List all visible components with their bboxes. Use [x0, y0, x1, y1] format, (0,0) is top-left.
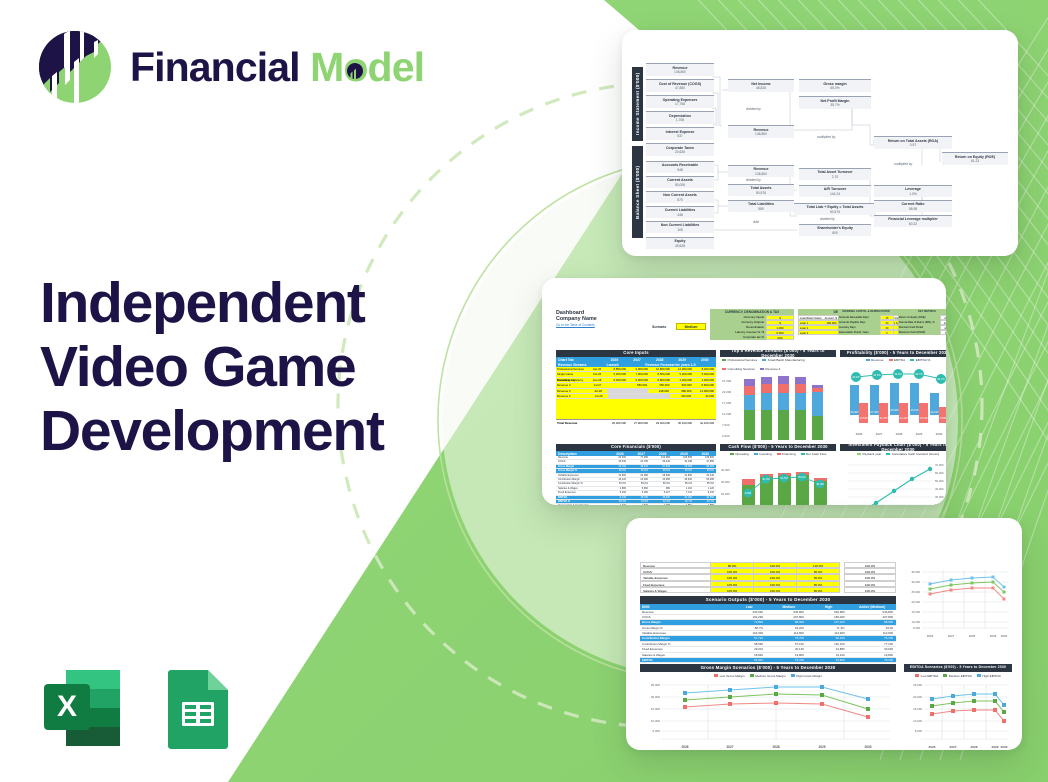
svg-text:30.2%: 30.2% — [852, 375, 860, 379]
cell-value: 58.0% — [628, 482, 650, 485]
cell-value: 56.0% — [650, 482, 672, 485]
cell-value: 47,880 — [694, 460, 716, 463]
dashboard-header: Dashboard Company Name Go to the Table o… — [556, 310, 597, 327]
svg-text:30,000: 30,000 — [935, 495, 944, 499]
cell-value[interactable]: 105.0% — [710, 575, 753, 579]
row-label: Depreciation & Amortisation — [556, 504, 606, 505]
node-net-income: Net Income48,828 — [728, 79, 794, 92]
row-label: Revenue — [640, 610, 725, 614]
svg-text:11,780: 11,780 — [880, 416, 888, 420]
cell-value: 30,125 — [766, 647, 807, 651]
cell-value: 18,840 — [725, 653, 766, 657]
cell-value: 23,780 — [628, 460, 650, 463]
revenue-streams-rows: Professional ServicesApr-268,850,0009,00… — [556, 367, 716, 419]
cell-value: 28,840 — [650, 474, 672, 477]
svg-text:9,880: 9,880 — [940, 416, 946, 420]
core-inputs-subheader: Chart Tab 2026 2027 2028 2029 2030 — [556, 357, 716, 362]
cell-value: 1,855 — [694, 504, 716, 505]
row-label: EBITDA % — [556, 500, 606, 503]
node-total-liabilities: Total Liabilities589 — [728, 200, 794, 212]
row-label: Fixed Expenses — [556, 491, 606, 494]
cell-value: 55,480 — [694, 478, 716, 481]
svg-text:15,000: 15,000 — [913, 707, 922, 711]
cell-value: 75,700 — [766, 658, 807, 662]
cell-value: 5,960 — [628, 487, 650, 490]
brand-word-del: del — [368, 44, 425, 90]
core-financials-panel: Core Financials ($'000) Description 2026… — [556, 444, 716, 505]
cell-value: 100.0% — [845, 575, 895, 579]
node-equity: Equity49,628 — [646, 237, 714, 249]
row-label: Gross Margin % — [556, 469, 606, 472]
svg-text:2030: 2030 — [1001, 634, 1008, 638]
svg-text:10,000: 10,000 — [913, 719, 922, 723]
cash-flow-chart-svg: 40,00030,00020,00010,000-(10,000) — [720, 457, 836, 505]
node-financial-leverage-multiplier: Financial Leverage multiplier60.22 — [874, 215, 952, 227]
svg-text:-: - — [659, 737, 660, 741]
cell-value: 55.0% — [672, 482, 694, 485]
cell-value: 40,650 — [694, 496, 716, 499]
cell-value: 65.0% — [694, 469, 716, 472]
operator-add: Add — [753, 220, 759, 224]
svg-text:2030: 2030 — [936, 432, 943, 436]
cell-value: 546,800 — [766, 610, 807, 614]
brand-word-m: M — [310, 44, 343, 90]
node-current-ratio: Current Ratio58.98 — [874, 200, 952, 212]
profitability-chart: Profitability ($'000) - 5 Years to Decem… — [840, 350, 946, 446]
cell-value: 33,440 — [694, 474, 716, 477]
cell-value: 18,730 — [628, 496, 650, 499]
node-revenue: Revenue136,800 — [646, 63, 714, 76]
svg-text:7,000: 7,000 — [722, 423, 730, 427]
scenario-outputs-table: Scenario Outputs ($'000) - 5 Years to De… — [640, 596, 896, 669]
cell-value: 15,760 — [606, 465, 628, 468]
cell-value: 5,200 — [606, 491, 628, 494]
cell-value: 103,300 — [725, 631, 766, 635]
svg-text:32.7%: 32.7% — [937, 377, 945, 381]
cell-value: 75,700 — [766, 636, 807, 640]
svg-text:2027: 2027 — [726, 745, 733, 749]
svg-text:2026: 2026 — [927, 634, 934, 638]
profitability-chart-svg: 30.2%24.5%32.0%30.7%32.7% 26,30027,06029… — [840, 363, 946, 441]
file-format-icons: X — [38, 664, 242, 752]
row-label: COGS — [640, 615, 725, 619]
currency-panel: CURRENCY, DENOMINATION & TAX Currency In… — [710, 309, 794, 340]
cell-value: 107,100 — [807, 620, 848, 624]
cell-value: 333,530 — [725, 610, 766, 614]
scenario-overview-chart: 35,00030,00025,000 20,00015,00010,0005,0… — [904, 562, 1012, 647]
scenario-assumptions-table: Revenue80.0%100.0%120.0%COGS105.0%100.0%… — [640, 562, 840, 593]
cell-value: 23,090 — [628, 478, 650, 481]
svg-text:5,000: 5,000 — [652, 729, 660, 733]
cell-value: 1,500 — [628, 504, 650, 505]
svg-text:30.7%: 30.7% — [915, 372, 923, 376]
chart-title: Gross Margin Scenarios ($'000) - 5 Years… — [640, 664, 896, 672]
node-total-liab-equity-total-assets: Total Liab + Equity = Total Assets50,576 — [794, 203, 876, 215]
svg-text:10,540: 10,540 — [860, 416, 868, 420]
cell-value: 62.0% — [628, 469, 650, 472]
row-label: Contribution Margin — [556, 478, 606, 481]
ebitda-scenarios-chart: EBITDA Scenarios ($'000) - 5 Years to De… — [904, 664, 1012, 750]
cell-value: 30,025 — [848, 647, 896, 651]
page-title-line-1: Independent — [40, 272, 384, 336]
cell-value: 5,280 — [628, 491, 650, 494]
cell-value: 113,900 — [848, 631, 896, 635]
mini-chart-circle-icon — [346, 47, 365, 88]
cell-value: 2,880 — [606, 487, 628, 490]
chart-title: Investment Payback Chart ($'000) - 5 Yea… — [840, 444, 946, 451]
cash-flow-chart: Cash Flow ($'000) - 5 Years to December … — [720, 444, 836, 505]
cell-value: 38,590 — [725, 642, 766, 646]
balance-sheet-side-label: Balance Sheet ($'000) — [632, 146, 643, 238]
cell-value: 7,011 — [672, 491, 694, 494]
node-return-on-equity: Return on Equity (ROE)61.23 — [942, 152, 1008, 165]
svg-text:2026: 2026 — [929, 745, 936, 749]
dashboard-sheet: Dashboard Company Name Go to the Table o… — [542, 278, 946, 505]
cell-value: 65.0% — [650, 469, 672, 472]
cell-value: 88,920 — [694, 465, 716, 468]
ebitda-chart-svg: 25,00020,00015,00010,0005,000- 202620272… — [904, 679, 1012, 750]
cell-value: 546,800 — [848, 610, 896, 614]
svg-text:32.0%: 32.0% — [894, 372, 902, 376]
stacked-bar-chart-svg: 27,00022,00017,000 12,0007,0002,000 — [720, 372, 836, 450]
svg-text:10,000: 10,000 — [721, 504, 730, 505]
svg-text:2027: 2027 — [948, 634, 955, 638]
dupont-diagram-card[interactable]: Income Statement ($'000) Balance Sheet (… — [622, 30, 1018, 256]
cell-value: 53.0% — [606, 482, 628, 485]
svg-text:40,000: 40,000 — [721, 468, 730, 472]
cell-value: 30.2% — [606, 500, 628, 503]
cell-value[interactable]: 105.0% — [710, 582, 753, 586]
cell-value: 10,120 — [606, 478, 628, 481]
svg-text:50,016: 50,016 — [798, 476, 806, 479]
table-row[interactable]: Salaries & Wages105.0%100.0%95.0% — [640, 587, 840, 593]
cell-value[interactable]: 100.0% — [753, 569, 796, 573]
node-depreciation: Depreciation1,765 — [646, 111, 714, 124]
node-net-profit-margin: Net Profit Margin35.7% — [799, 96, 871, 109]
svg-text:20,000: 20,000 — [651, 695, 661, 699]
chart-title: EBITDA Scenarios ($'000) - 5 Years to De… — [904, 664, 1012, 672]
cell-value: 62,200 — [766, 626, 807, 630]
cell-value: 71.4% — [807, 626, 848, 630]
svg-text:40,000: 40,000 — [935, 487, 944, 491]
core-inputs-title: Core Inputs — [556, 350, 716, 357]
row-label: Salaries & Wages — [641, 588, 710, 592]
row-label: EBITDA — [556, 496, 606, 499]
google-sheets-icon[interactable] — [154, 664, 242, 752]
cell-value: 40,198 — [672, 460, 694, 463]
core-inputs-panel: Core Inputs Chart Tab 2026 2027 2028 202… — [556, 350, 716, 426]
operator-multiplied-by-1: multiplied by — [817, 135, 835, 139]
svg-text:27,000: 27,000 — [722, 379, 732, 383]
node-return-on-total-assets: Return on Total Assets (ROA)0.97 — [874, 136, 952, 149]
cell-value: 33,950 — [650, 478, 672, 481]
cell-value: 63.00 — [848, 626, 896, 630]
row-label: Fixed Expenses — [640, 647, 725, 651]
cell-value: 26,300 — [606, 456, 628, 459]
cell-value: 88,300 — [766, 620, 807, 624]
cell-value[interactable]: 100.0% — [753, 582, 796, 586]
row-label: Variable Expenses — [640, 631, 725, 635]
cell-value: 100.0% — [845, 569, 895, 573]
svg-text:2029: 2029 — [992, 745, 999, 749]
row-label: Revenue — [556, 456, 606, 459]
cell-value: 60.0% — [606, 469, 628, 472]
excel-letter-x: X — [57, 690, 77, 723]
svg-text:30,000: 30,000 — [911, 580, 920, 584]
cell-value: 24.5% — [628, 500, 650, 503]
cell-value: 22,090 — [628, 474, 650, 477]
working-capital-panel: WORKING CAPITAL & DEPRECIATION Accounts … — [838, 309, 894, 335]
svg-text:2029: 2029 — [916, 432, 923, 436]
cell-value: 1,073 — [606, 504, 628, 505]
cell-value[interactable]: 95.0% — [796, 569, 839, 573]
top5-revenue-streams-chart: Top 5 Revenue Streams ($'000) - 5 Years … — [720, 350, 836, 455]
brand-wordmark: Financial Model — [130, 47, 424, 88]
cell-value: 91,500 — [807, 658, 848, 662]
cell-value: 32.0% — [650, 500, 672, 503]
cell-value: 9,100 — [694, 491, 716, 494]
svg-text:50,000: 50,000 — [935, 479, 944, 483]
cell-value: 1,780 — [650, 504, 672, 505]
currency-panel-rows: Currency Inputs$ Currency Outputs$ Denom… — [710, 315, 794, 340]
total-revenue-row: Total Revenue 26,200,000 27,900,000 29,4… — [556, 419, 716, 426]
row-label: Revenue — [641, 563, 710, 567]
income-statement-side-label: Income Statement ($'000) — [632, 67, 643, 141]
svg-text:2029: 2029 — [990, 634, 997, 638]
svg-text:20,000: 20,000 — [721, 492, 730, 496]
cell-value: 100.0% — [845, 588, 895, 592]
row-label: Salaries & Wages — [640, 653, 725, 657]
svg-text:-: - — [921, 737, 922, 741]
page-title-line-2: Video Game — [40, 336, 384, 400]
cell-value: 136,800 — [694, 456, 716, 459]
cell-value: 104,056 — [650, 456, 672, 459]
svg-text:15,000: 15,000 — [911, 610, 920, 614]
cell-value[interactable]: 100.0% — [753, 575, 796, 579]
cell-value: 67,616 — [650, 465, 672, 468]
cell-value: 19,800 — [848, 653, 896, 657]
node-accounts-receivable: Accounts Receivable948 — [646, 161, 714, 173]
node-current-liabilities: Current Liabilities448 — [646, 206, 714, 218]
node-shareholders-equity: Shareholder's Equity800 — [799, 224, 871, 236]
scenario-label: Scenario — [652, 325, 666, 329]
node-interest-expense: Interest Expense537 — [646, 127, 714, 140]
cell-value: 530,580 — [807, 610, 848, 614]
svg-text:29,400: 29,400 — [891, 408, 899, 412]
svg-text:15,000: 15,000 — [651, 707, 661, 711]
svg-text:24.5%: 24.5% — [873, 373, 881, 377]
cell-value: 207,800 — [766, 615, 807, 619]
cell-value: 113,800 — [766, 631, 807, 635]
svg-text:60,000: 60,000 — [935, 471, 944, 475]
scenario-outputs-card[interactable]: Revenue80.0%100.0%120.0%COGS105.0%100.0%… — [626, 518, 1022, 750]
svg-text:17,000: 17,000 — [722, 401, 732, 405]
cell-value: 88,300 — [848, 620, 896, 624]
svg-text:48,188: 48,188 — [816, 483, 824, 486]
cell-value: 52,007 — [725, 658, 766, 662]
node-current-assets: Current Assets50,006 — [646, 176, 714, 188]
row-label: Variable Expenses — [556, 474, 606, 477]
svg-text:25,000: 25,000 — [911, 590, 920, 594]
svg-text:34,760: 34,760 — [780, 477, 788, 480]
scenario-dropdown[interactable]: Medium — [676, 323, 706, 330]
dashboard-company-name: Company Name — [556, 316, 597, 322]
cell-value: 31,880 — [807, 647, 848, 651]
row-label: Salaries & Wages — [556, 487, 606, 490]
svg-text:2027: 2027 — [876, 432, 883, 436]
row-label: COGS — [641, 569, 710, 573]
svg-text:2028: 2028 — [969, 634, 976, 638]
cell-value[interactable]: 100.0% — [753, 588, 796, 592]
cell-value: 13,800 — [606, 474, 628, 477]
cell-value: 58.7% — [725, 626, 766, 630]
svg-text:12,000: 12,000 — [722, 412, 732, 416]
cell-value: 77,100 — [848, 642, 896, 646]
brand-word-financial: Financial — [130, 44, 300, 90]
svg-text:2027: 2027 — [950, 745, 957, 749]
row-label: Contribution Margin % — [640, 642, 725, 646]
cell-value: 19,100 — [807, 653, 848, 657]
svg-text:2030: 2030 — [1001, 745, 1008, 749]
svg-text:10,000: 10,000 — [651, 719, 661, 723]
row-label: Fixed Expenses — [641, 582, 710, 586]
node-revenue-asset-turnover: Revenue136,800 — [728, 165, 794, 177]
chart-legend: Low EBITDA Medium EBITDA High EBITDA — [904, 672, 1012, 679]
svg-text:20,000: 20,000 — [913, 695, 922, 699]
svg-text:5,000: 5,000 — [913, 626, 920, 630]
cell-value: 19,800 — [766, 653, 807, 657]
chart-legend: Low Gross Margin Medium Gross Margin Hig… — [640, 672, 896, 679]
financial-dashboard-card[interactable]: Dashboard Company Name Go to the Table o… — [542, 278, 946, 505]
gross-margin-scenarios-chart: Gross Margin Scenarios ($'000) - 5 Years… — [640, 664, 896, 750]
node-total-asset-turnover: Total Asset Turnover2.70 — [799, 168, 871, 180]
svg-text:25,000: 25,000 — [651, 683, 661, 687]
page-title: Independent Video Game Development — [40, 272, 384, 463]
cell-value: 48,270 — [628, 465, 650, 468]
cell-value[interactable]: 120.0% — [796, 563, 839, 567]
cell-value: 106,535 — [672, 456, 694, 459]
cell-value: 38,630 — [672, 478, 694, 481]
cell-value: 57,100 — [766, 642, 807, 646]
svg-text:8,366: 8,366 — [745, 492, 752, 495]
cell-value: 75,700 — [848, 658, 896, 662]
financial-model-circle-logo-icon — [36, 28, 114, 106]
cell-value: 980 — [650, 487, 672, 490]
svg-text:5,000: 5,000 — [915, 729, 923, 733]
cell-value: 126,100 — [807, 642, 848, 646]
cell-value: 76,335 — [672, 465, 694, 468]
core-financials-title: Core Financials ($'000) — [556, 444, 716, 451]
cell-value[interactable]: 95.0% — [796, 588, 839, 592]
dupont-diagram-sheet: Income Statement ($'000) Balance Sheet (… — [622, 30, 1018, 256]
svg-text:22,100: 22,100 — [931, 410, 939, 414]
brand-word-o: o — [343, 47, 367, 88]
cell-value: 207,800 — [848, 615, 896, 619]
scenario-overview-chart-svg: 35,00030,00025,000 20,00015,00010,0005,0… — [904, 562, 1012, 642]
svg-text:2028: 2028 — [896, 432, 903, 436]
cell-value: 8,130 — [606, 496, 628, 499]
cell-value[interactable]: 95.0% — [796, 582, 839, 586]
node-non-current-liabilities: Non Current Liabilities105 — [646, 221, 714, 233]
svg-text:30,130: 30,130 — [762, 478, 770, 481]
page-title-line-3: Development — [40, 400, 384, 464]
dashboard-toc-link[interactable]: Go to the Table of Contents — [556, 323, 597, 327]
operator-multiplied-by-2: multiplied by — [894, 162, 912, 166]
cell-value: 30.7% — [672, 500, 694, 503]
chart-title: Cash Flow ($'000) - 5 Years to December … — [720, 444, 836, 451]
svg-text:10,000: 10,000 — [911, 620, 920, 624]
node-corporate-taxes: Corporate Taxes20,626 — [646, 143, 714, 156]
node-ar-turnover: A/R Turnover144.24 — [799, 185, 871, 197]
cell-value[interactable]: 105.0% — [710, 569, 753, 573]
svg-text:20,000: 20,000 — [911, 600, 920, 604]
svg-text:25,000: 25,000 — [913, 683, 922, 687]
cell-value: 10,540 — [606, 460, 628, 463]
operator-divided-by-1: divided by — [746, 107, 761, 111]
investment-payback-chart: Investment Payback Chart ($'000) - 5 Yea… — [840, 444, 946, 505]
table-row: 100.0% — [844, 587, 896, 593]
scenario-sheet: Revenue80.0%100.0%120.0%COGS105.0%100.0%… — [626, 518, 1022, 750]
scenario-actual-column: 100.0%100.0%100.0%100.0%100.0% — [844, 562, 896, 593]
svg-text:20,000: 20,000 — [935, 503, 944, 505]
row-label: Variable Expenses — [641, 575, 710, 579]
row-label: EBITDA — [640, 658, 725, 662]
chart-title: Top 5 Revenue Streams ($'000) - 5 Years … — [720, 350, 836, 357]
svg-text:2028: 2028 — [772, 745, 779, 749]
cell-value[interactable]: 80.0% — [710, 563, 753, 567]
svg-text:2028: 2028 — [971, 745, 978, 749]
cell-value[interactable]: 105.0% — [710, 588, 753, 592]
cell-value: 75,700 — [848, 636, 896, 640]
operator-divided-by-2: divided by — [746, 178, 761, 182]
cell-value: 55.0% — [694, 482, 716, 485]
cell-value: 113,900 — [807, 631, 848, 635]
row-label: Gross Margin % — [640, 626, 725, 630]
svg-text:27,060: 27,060 — [871, 410, 879, 414]
scenario-table-rows: Revenue333,530546,800530,580546,800COGS1… — [640, 610, 896, 669]
node-revenue-denominator: Revenue136,800 — [728, 125, 794, 138]
gross-margin-chart-svg: 25,00020,00015,00010,0005,000- 202620272… — [640, 679, 896, 750]
cell-value: 1,100 — [672, 487, 694, 490]
node-total-assets: Total Assets50,576 — [728, 184, 794, 196]
payback-chart-svg: 70,00060,00050,00040,000 30,00020,00010,… — [840, 457, 946, 505]
cell-value: 1,851 — [672, 504, 694, 505]
cell-value: 183,000 — [807, 615, 848, 619]
cell-value: 65.5% — [672, 469, 694, 472]
cell-value: 36,440 — [650, 460, 672, 463]
cell-value: 1,120 — [694, 487, 716, 490]
scenario-table-title: Scenario Outputs ($'000) - 5 Years to De… — [640, 596, 896, 604]
cell-value: 77,060 — [628, 456, 650, 459]
svg-text:2,000: 2,000 — [722, 434, 730, 438]
svg-text:13,198: 13,198 — [920, 416, 928, 420]
svg-text:2030: 2030 — [864, 745, 871, 749]
svg-text:2029: 2029 — [818, 745, 825, 749]
cell-value: 5,027 — [650, 491, 672, 494]
table-row[interactable]: Depreciation & Amortisation1,0731,5001,7… — [556, 504, 716, 505]
cell-value[interactable]: 100.0% — [753, 563, 796, 567]
node-leverage: Leverage1.0% — [874, 185, 952, 197]
microsoft-excel-icon[interactable]: X — [38, 664, 126, 752]
cell-value: 29,000 — [650, 496, 672, 499]
brand-logo[interactable]: Financial Model — [36, 28, 424, 106]
core-financials-rows: Revenue26,30077,060104,056106,535136,800… — [556, 456, 716, 505]
row-label: Contribution Margin % — [556, 482, 606, 485]
svg-text:70,000: 70,000 — [935, 463, 944, 467]
node-operating-expenses: Operating Expenses17,758 — [646, 95, 714, 108]
svg-text:30,000: 30,000 — [721, 480, 730, 484]
cell-value[interactable]: 95.0% — [796, 575, 839, 579]
